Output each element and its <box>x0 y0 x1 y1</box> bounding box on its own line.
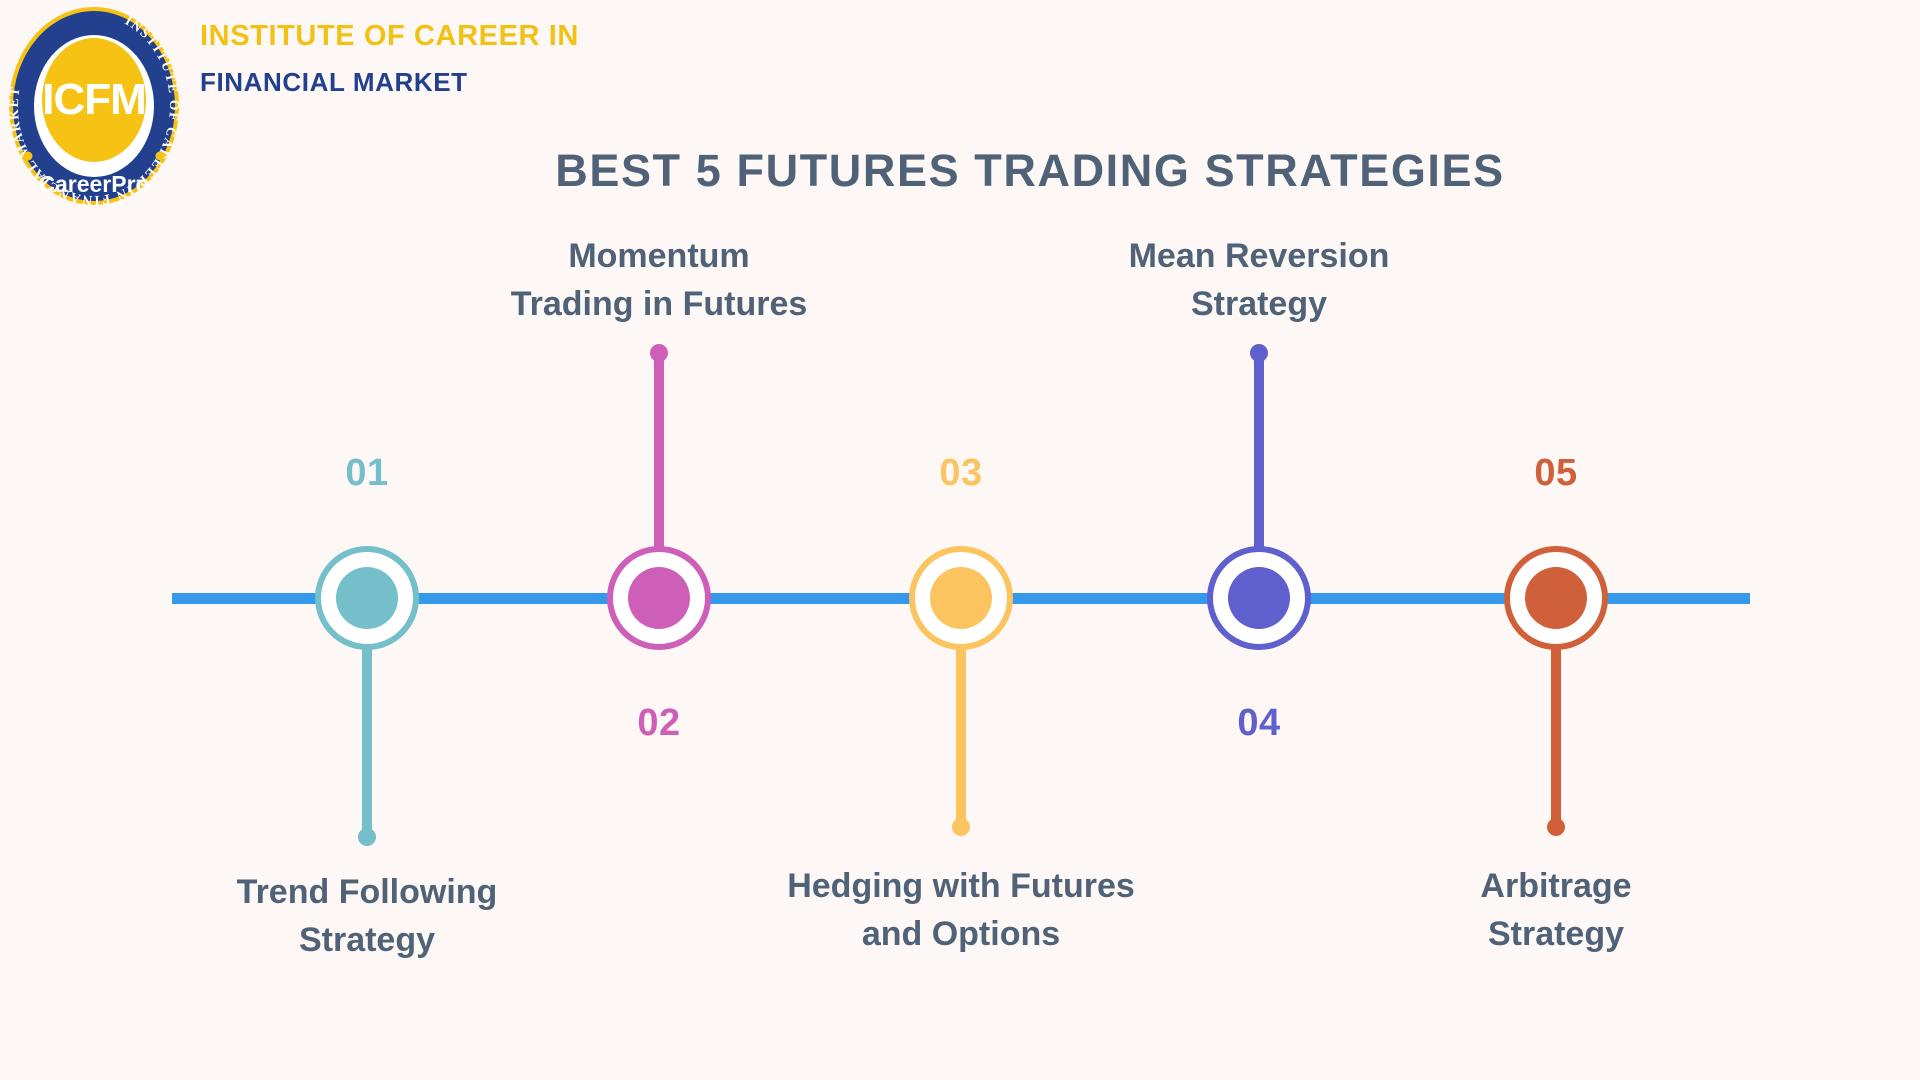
node-label-01: Trend Following Strategy <box>152 868 582 965</box>
node-label-05-line2: Strategy <box>1341 910 1771 958</box>
node-label-04-line1: Mean Reversion <box>1044 232 1474 280</box>
node-dot-03 <box>930 567 992 629</box>
node-label-03-line2: and Options <box>746 910 1176 958</box>
node-stem-cap-03 <box>952 818 970 836</box>
node-label-03: Hedging with Futures and Options <box>746 862 1176 959</box>
node-stem-cap-04 <box>1250 344 1268 362</box>
node-label-01-line1: Trend Following <box>152 868 582 916</box>
node-label-04: Mean Reversion Strategy <box>1044 232 1474 329</box>
node-stem-cap-05 <box>1547 818 1565 836</box>
node-number-02: 02 <box>579 702 739 745</box>
node-dot-04 <box>1228 567 1290 629</box>
node-label-03-line1: Hedging with Futures <box>746 862 1176 910</box>
node-dot-01 <box>336 567 398 629</box>
timeline-infographic: 01 Trend Following Strategy 02 Momentum … <box>0 0 1920 1080</box>
node-number-01: 01 <box>287 452 447 495</box>
node-dot-05 <box>1525 567 1587 629</box>
node-stem-cap-02 <box>650 344 668 362</box>
node-label-04-line2: Strategy <box>1044 280 1474 328</box>
node-number-04: 04 <box>1179 702 1339 745</box>
node-number-05: 05 <box>1476 452 1636 495</box>
node-dot-02 <box>628 567 690 629</box>
node-number-03: 03 <box>881 452 1041 495</box>
node-label-05: Arbitrage Strategy <box>1341 862 1771 959</box>
node-label-02-line1: Momentum <box>444 232 874 280</box>
node-stem-cap-01 <box>358 828 376 846</box>
node-label-05-line1: Arbitrage <box>1341 862 1771 910</box>
node-label-01-line2: Strategy <box>152 916 582 964</box>
node-label-02: Momentum Trading in Futures <box>444 232 874 329</box>
node-label-02-line2: Trading in Futures <box>444 280 874 328</box>
